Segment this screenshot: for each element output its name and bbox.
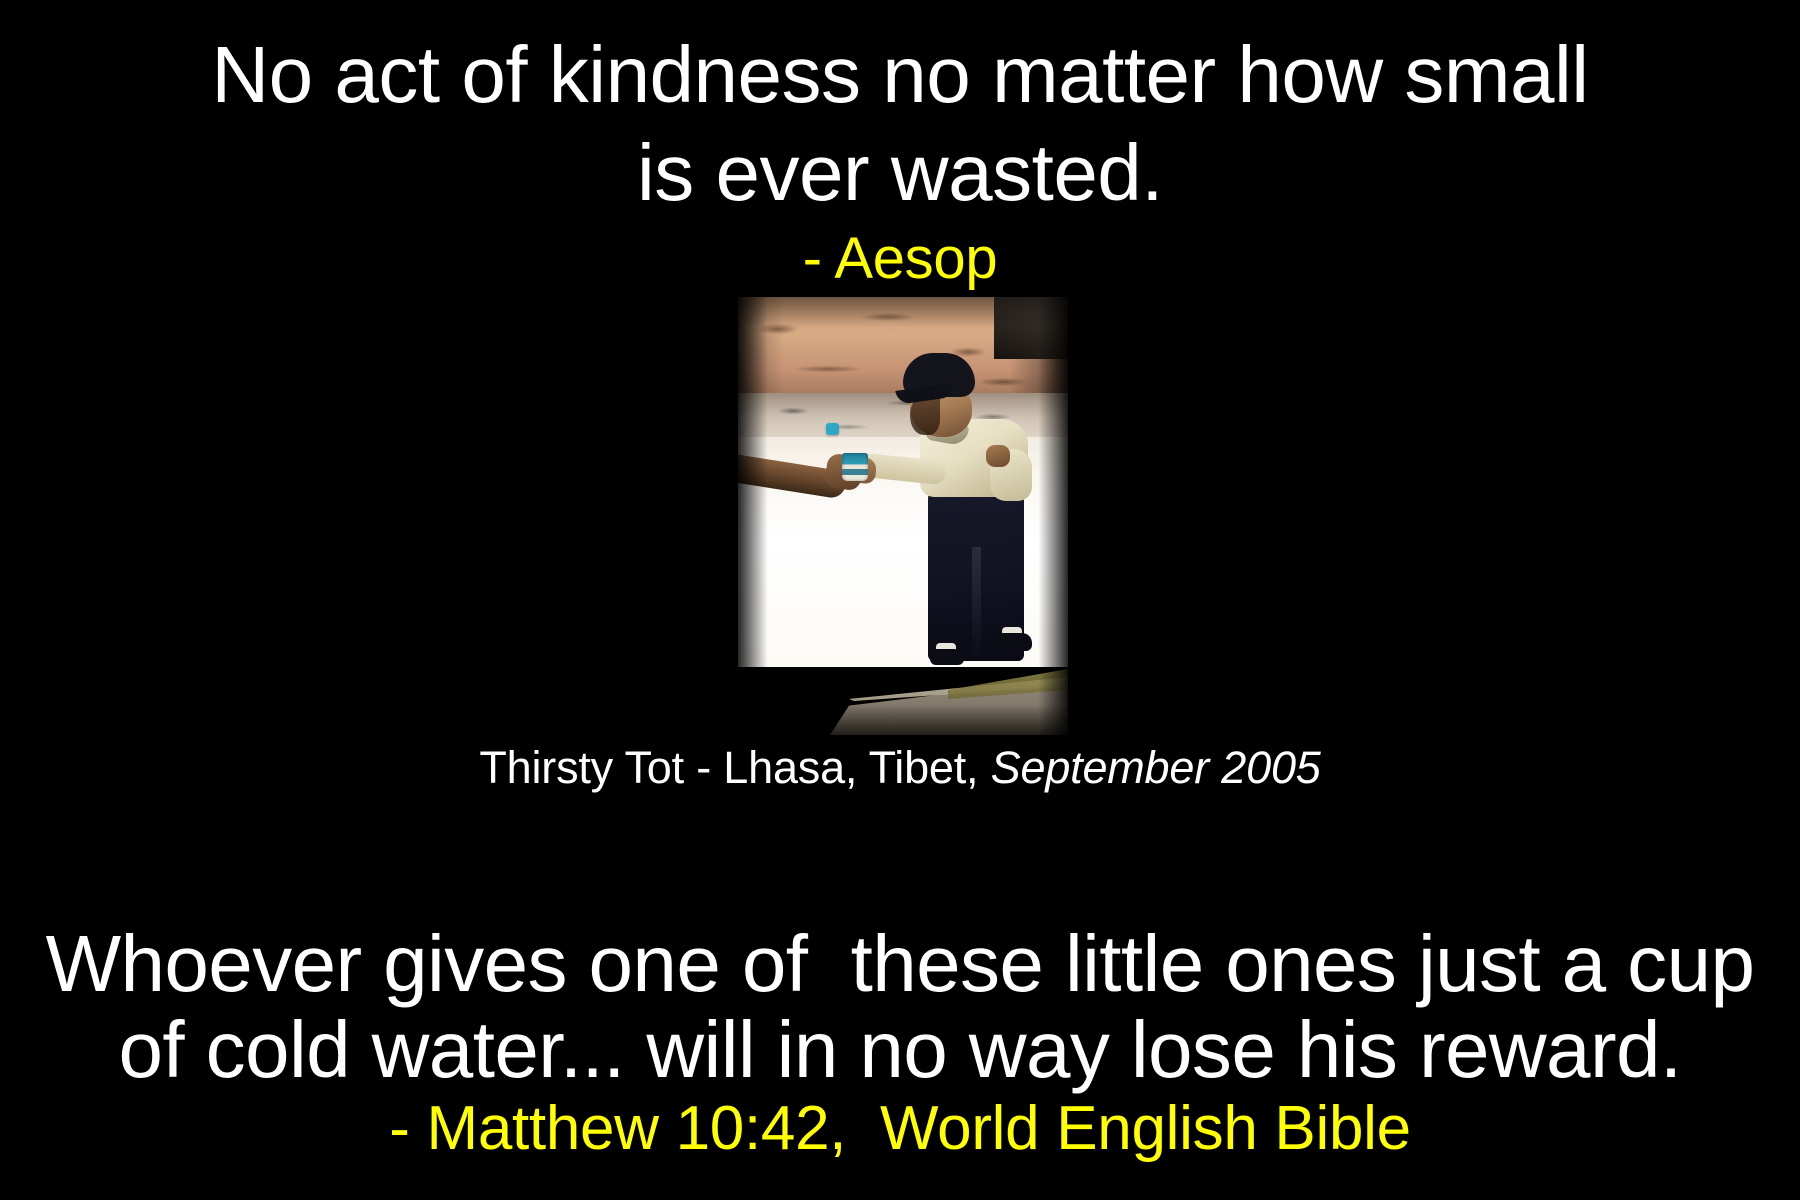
photo-child-hand-other [986, 445, 1010, 467]
photo-water-cup [842, 453, 868, 481]
bottom-quote-attribution: - Matthew 10:42, World English Bible [0, 1094, 1800, 1164]
photo-caption: Thirsty Tot - Lhasa, Tibet, September 20… [0, 742, 1800, 794]
photo-frame [738, 297, 1068, 735]
photo-child [738, 297, 1068, 735]
photo-child-shoe-right [994, 633, 1032, 651]
photo-water-cup-band [842, 469, 868, 475]
photo-caption-main: Thirsty Tot - Lhasa, Tibet, [479, 742, 990, 793]
photo-caption-date: September 2005 [991, 742, 1321, 793]
bottom-quote-line-1: Whoever gives one of these little ones j… [0, 918, 1800, 1010]
top-quote-line-2: is ever wasted. [0, 124, 1800, 222]
photo-child-leg-highlight [972, 547, 981, 663]
thirsty-tot-photo [738, 297, 1068, 735]
photo-child-shoe-left [930, 649, 964, 665]
bottom-quote-line-2: of cold water... will in no way lose his… [0, 1004, 1800, 1096]
top-quote-attribution: - Aesop [0, 228, 1800, 290]
slide-canvas: No act of kindness no matter how small i… [0, 0, 1800, 1200]
top-quote-line-1: No act of kindness no matter how small [0, 26, 1800, 124]
